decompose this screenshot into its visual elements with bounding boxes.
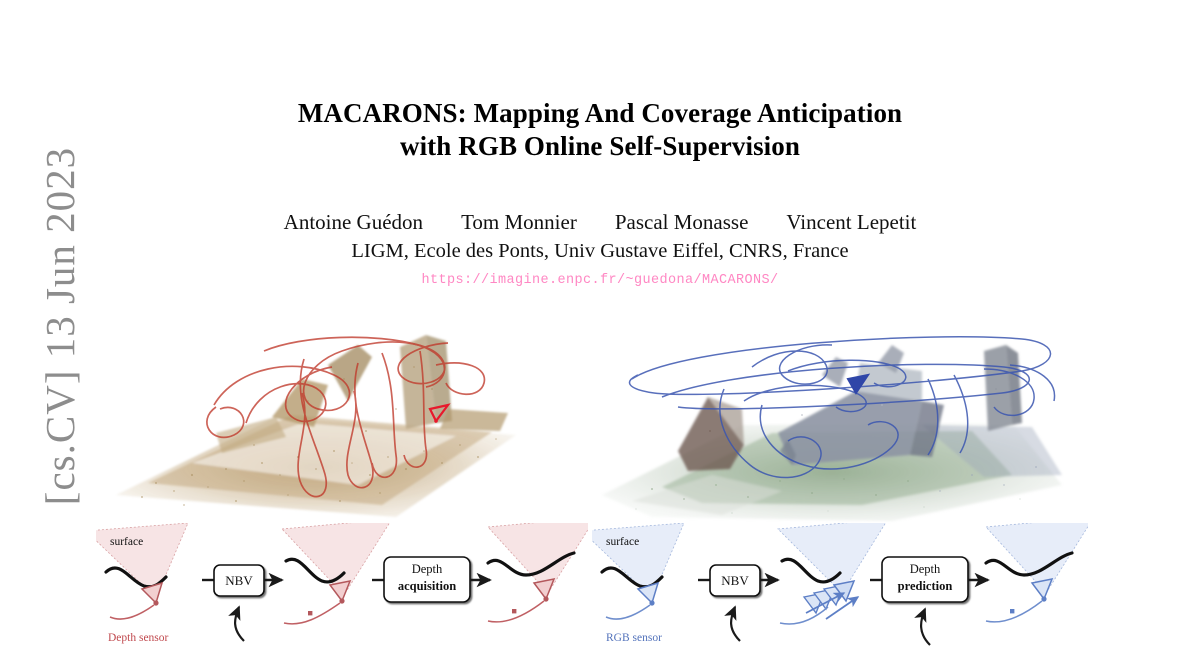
label-rgb-sensor: RGB sensor: [606, 632, 662, 644]
predicted-frustum-fan: [804, 581, 858, 619]
stage-1-left: surface Depth sensor: [96, 523, 188, 644]
author-list: Antoine Guédon Tom Monnier Pascal Monass…: [0, 210, 1200, 235]
stage-1-right: surface RGB sensor: [592, 523, 684, 644]
pointcloud-right: [592, 305, 1088, 527]
stage-2-left: [282, 523, 392, 624]
depth-prediction-line-1: Depth: [910, 562, 941, 576]
author-name: Tom Monnier: [461, 210, 577, 235]
nbv-box-left: NBV: [202, 565, 282, 641]
label-surface-right: surface: [606, 536, 639, 548]
project-url-link[interactable]: https://imagine.enpc.fr/~guedona/MACARON…: [0, 273, 1200, 288]
author-name: Antoine Guédon: [284, 210, 423, 235]
teaser-figure: surface Depth sensor NBV: [0, 305, 1200, 648]
title-line-2: with RGB Online Self-Supervision: [0, 130, 1200, 163]
pointcloud-left: [96, 305, 588, 527]
author-name: Vincent Lepetit: [786, 210, 916, 235]
stage-3-left: [488, 523, 588, 622]
title-line-1: MACARONS: Mapping And Coverage Anticipat…: [0, 97, 1200, 130]
diagram-rgb-pipeline: surface RGB sensor NBV: [592, 523, 1088, 648]
depth-acquisition-box: Depth acquisition: [372, 557, 490, 602]
paper-page: [cs.CV] 13 Jun 2023 MACARONS: Mapping An…: [0, 0, 1200, 648]
nbv-box-right: NBV: [698, 565, 778, 641]
diagram-right-svg: surface RGB sensor NBV: [592, 523, 1088, 648]
nbv-box-left-label: NBV: [225, 573, 253, 588]
depth-prediction-box: Depth prediction: [870, 557, 988, 645]
label-surface-left: surface: [110, 536, 143, 548]
diagram-left-svg: surface Depth sensor NBV: [96, 523, 588, 648]
diagram-depth-pipeline: surface Depth sensor NBV: [96, 523, 588, 648]
depth-prediction-line-2: prediction: [898, 579, 953, 593]
pointcloud-left-svg: [96, 305, 588, 527]
depth-acquisition-line-2: acquisition: [398, 579, 456, 593]
label-depth-sensor: Depth sensor: [108, 632, 169, 644]
affiliation: LIGM, Ecole des Ponts, Univ Gustave Eiff…: [0, 240, 1200, 263]
depth-acquisition-line-1: Depth: [412, 562, 443, 576]
stage-2-right: [778, 523, 888, 624]
author-name: Pascal Monasse: [615, 210, 749, 235]
nbv-box-right-label: NBV: [721, 573, 749, 588]
project-url-text: https://imagine.enpc.fr/~guedona/MACARON…: [421, 273, 778, 288]
pointcloud-right-svg: [592, 305, 1088, 527]
stage-3-right: [986, 523, 1088, 622]
page-title: MACARONS: Mapping And Coverage Anticipat…: [0, 97, 1200, 163]
